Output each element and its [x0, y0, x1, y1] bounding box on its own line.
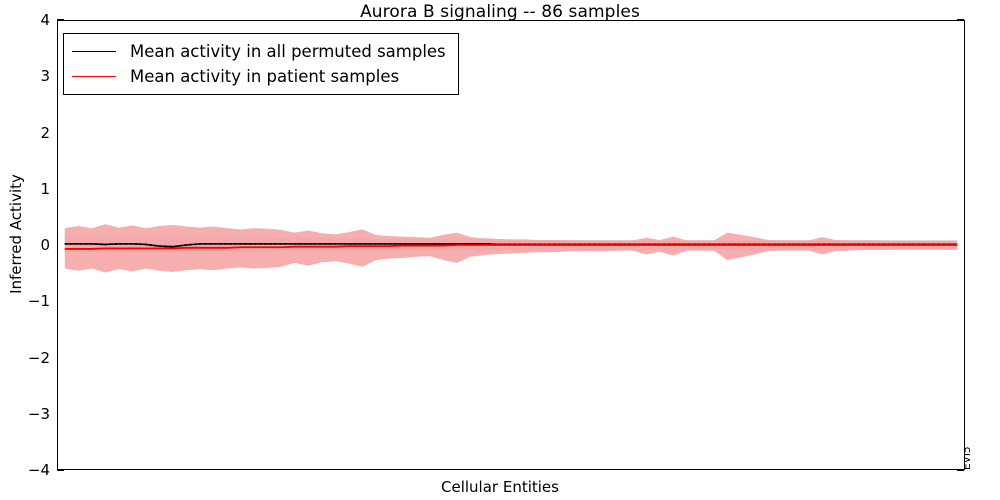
legend: Mean activity in all permuted samples Me… [63, 33, 459, 95]
legend-swatch-patient [72, 76, 116, 77]
legend-label-permuted: Mean activity in all permuted samples [130, 42, 446, 61]
legend-item-patient: Mean activity in patient samples [72, 64, 446, 89]
chart-root: Aurora B signaling -- 86 samples Inferre… [0, 0, 1000, 500]
legend-swatch-permuted [72, 51, 116, 52]
legend-label-patient: Mean activity in patient samples [130, 67, 399, 86]
legend-item-permuted: Mean activity in all permuted samples [72, 39, 446, 64]
